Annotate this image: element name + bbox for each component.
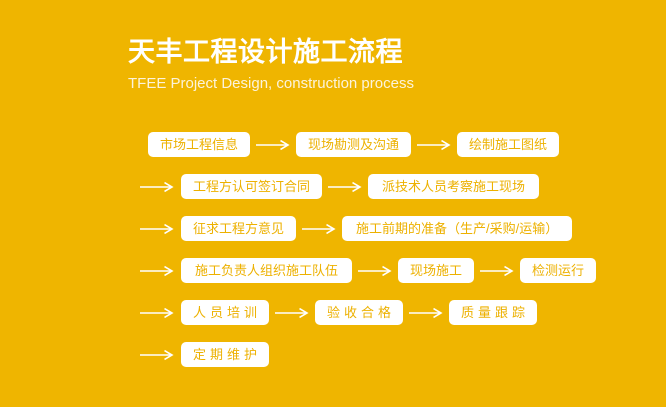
- flow-lead-arrow-icon: [140, 342, 174, 367]
- flow-row: 人员培训验收合格质量跟踪: [0, 299, 666, 326]
- flow-step-pill[interactable]: 现场施工: [398, 258, 474, 283]
- flow-arrow-icon: [358, 258, 392, 283]
- flow-step-pill[interactable]: 市场工程信息: [148, 132, 250, 157]
- flow-lead-arrow-icon: [140, 174, 174, 199]
- flow-arrow-icon: [302, 216, 336, 241]
- flow-step-pill[interactable]: 现场勘测及沟通: [296, 132, 411, 157]
- flow-step-pill[interactable]: 人员培训: [181, 300, 269, 325]
- flow-row: 市场工程信息现场勘测及沟通绘制施工图纸: [0, 131, 666, 158]
- process-flow-diagram: 市场工程信息现场勘测及沟通绘制施工图纸工程方认可签订合同派技术人员考察施工现场征…: [0, 131, 666, 383]
- flow-step-pill[interactable]: 定期维护: [181, 342, 269, 367]
- flow-row: 定期维护: [0, 341, 666, 368]
- flow-step-pill[interactable]: 工程方认可签订合同: [181, 174, 322, 199]
- flow-arrow-icon: [480, 258, 514, 283]
- flow-step-pill[interactable]: 施工前期的准备（生产/采购/运输）: [342, 216, 572, 241]
- flow-row: 工程方认可签订合同派技术人员考察施工现场: [0, 173, 666, 200]
- flow-step-pill[interactable]: 施工负责人组织施工队伍: [181, 258, 352, 283]
- flow-row: 征求工程方意见施工前期的准备（生产/采购/运输）: [0, 215, 666, 242]
- flow-arrow-icon: [409, 300, 443, 325]
- page-subtitle: TFEE Project Design, construction proces…: [128, 73, 414, 95]
- flow-row: 施工负责人组织施工队伍现场施工检测运行: [0, 257, 666, 284]
- poster-header: 天丰工程设计施工流程 TFEE Project Design, construc…: [128, 36, 414, 95]
- flow-arrow-icon: [417, 132, 451, 157]
- flow-step-pill[interactable]: 质量跟踪: [449, 300, 537, 325]
- flow-step-pill[interactable]: 验收合格: [315, 300, 403, 325]
- page-title: 天丰工程设计施工流程: [128, 36, 414, 68]
- flow-step-pill[interactable]: 检测运行: [520, 258, 596, 283]
- process-flow-poster: 天丰工程设计施工流程 TFEE Project Design, construc…: [0, 0, 666, 407]
- flow-lead-arrow-icon: [140, 216, 174, 241]
- flow-lead-arrow-icon: [140, 258, 174, 283]
- flow-arrow-icon: [275, 300, 309, 325]
- flow-arrow-icon: [256, 132, 290, 157]
- flow-step-pill[interactable]: 征求工程方意见: [181, 216, 296, 241]
- flow-step-pill[interactable]: 派技术人员考察施工现场: [368, 174, 539, 199]
- flow-step-pill[interactable]: 绘制施工图纸: [457, 132, 559, 157]
- flow-arrow-icon: [328, 174, 362, 199]
- flow-lead-arrow-icon: [140, 300, 174, 325]
